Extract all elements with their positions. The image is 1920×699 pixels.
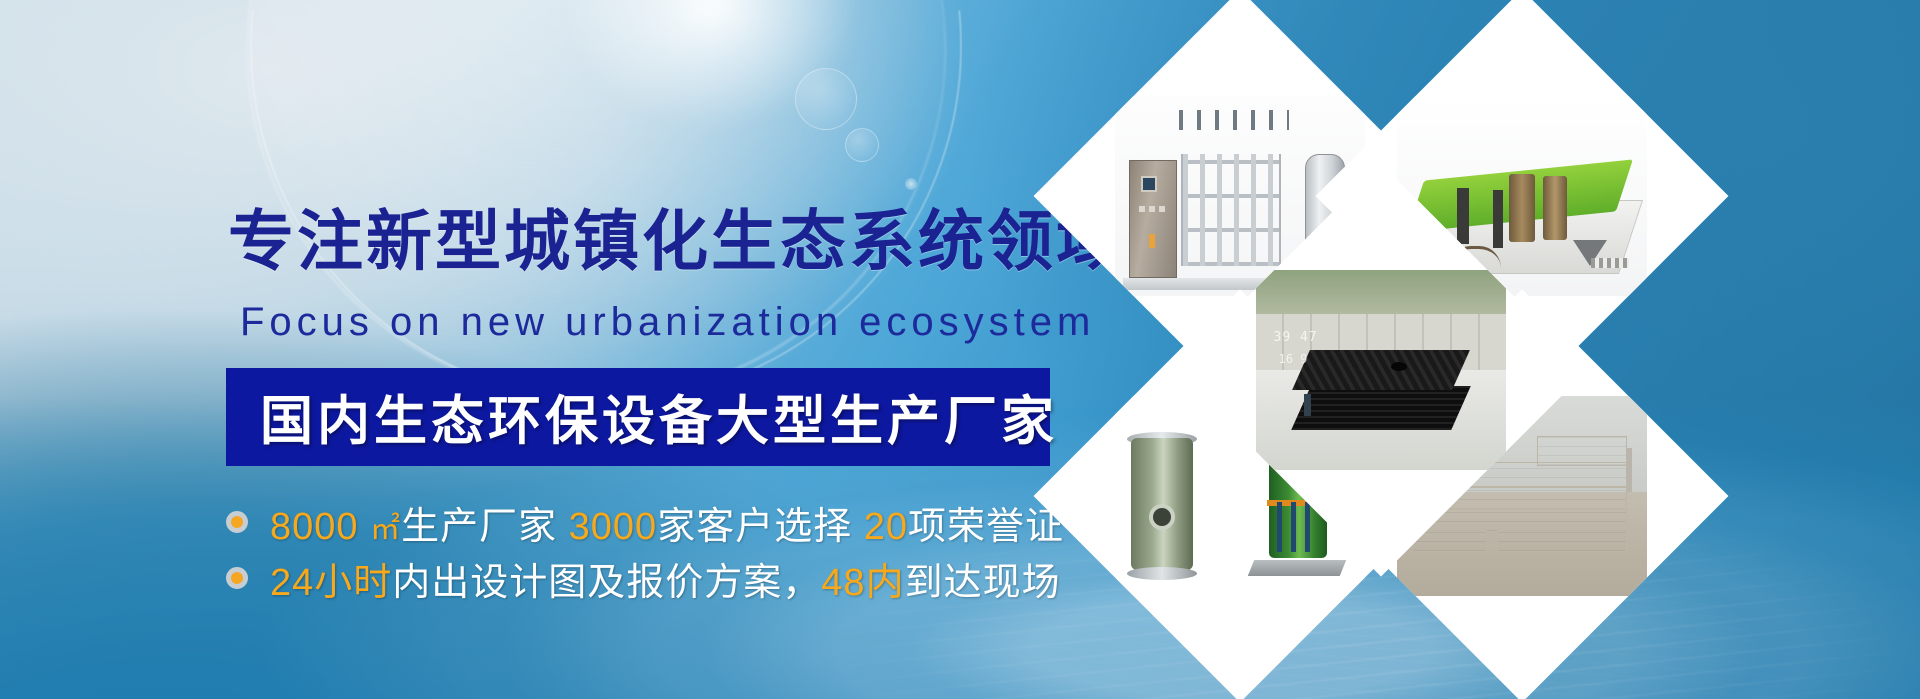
buried-mbr-tank-site-photo: 39 47 16 9 bbox=[1256, 270, 1506, 470]
photo-timestamp-overlay: 39 47 bbox=[1274, 330, 1318, 345]
page-subtitle-english: Focus on new urbanization ecosystem bbox=[240, 300, 1095, 345]
hero-copy-block: 专注新型城镇化生态系统领域 Focus on new urbanization … bbox=[0, 0, 1120, 699]
list-item: 8000 ㎡生产厂家 3000家客户选择 20项荣誉证书 bbox=[226, 494, 1103, 550]
list-item: 24小时内出设计图及报价方案，48内到达现场 bbox=[226, 550, 1103, 606]
hero-banner: 专注新型城镇化生态系统领域 Focus on new urbanization … bbox=[0, 0, 1920, 699]
highlight-banner: 国内生态环保设备大型生产厂家 bbox=[226, 368, 1050, 466]
bullet-dot-icon bbox=[226, 511, 248, 533]
page-title: 专注新型城镇化生态系统领域 bbox=[228, 208, 1125, 274]
photo-coordinate-overlay: 16 9 bbox=[1279, 352, 1308, 366]
bullet-text: 24小时内出设计图及报价方案，48内到达现场 bbox=[270, 551, 1061, 606]
bullet-text: 8000 ㎡生产厂家 3000家客户选择 20项荣誉证书 bbox=[270, 495, 1103, 550]
product-diamond-grid: 39 47 16 9 bbox=[1118, 58, 1738, 678]
feature-bullet-list: 8000 ㎡生产厂家 3000家客户选择 20项荣誉证书 24小时内出设计图及报… bbox=[226, 494, 1103, 606]
bullet-dot-icon bbox=[226, 567, 248, 589]
highlight-banner-label: 国内生态环保设备大型生产厂家 bbox=[226, 379, 1058, 455]
